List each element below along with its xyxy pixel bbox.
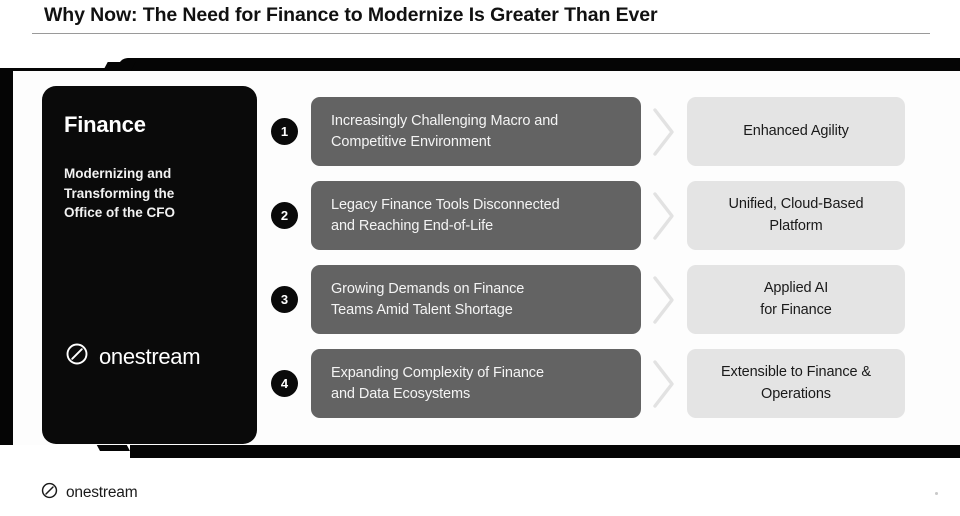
chevron-right-icon <box>641 97 687 166</box>
panel-subheading: Modernizing and Transforming the Office … <box>64 164 235 223</box>
list-item: 4 Expanding Complexity of Finance and Da… <box>271 349 941 418</box>
onestream-logo-icon <box>40 481 59 505</box>
outcome-box: Extensible to Finance & Operations <box>687 349 905 418</box>
frame-bottom-bar <box>130 445 960 458</box>
footer-brand-logo: onestream <box>40 481 137 505</box>
chevron-right-icon <box>641 265 687 334</box>
challenge-box: Increasingly Challenging Macro and Compe… <box>311 97 641 166</box>
list-item: 2 Legacy Finance Tools Disconnected and … <box>271 181 941 250</box>
panel-brand-logo: onestream <box>64 341 200 372</box>
outcome-box: Applied AI for Finance <box>687 265 905 334</box>
slide-frame: Finance Modernizing and Transforming the… <box>0 58 960 458</box>
slide-canvas: Finance Modernizing and Transforming the… <box>13 71 960 445</box>
step-number-badge: 3 <box>271 286 298 313</box>
list-item: 1 Increasingly Challenging Macro and Com… <box>271 97 941 166</box>
challenge-box: Expanding Complexity of Finance and Data… <box>311 349 641 418</box>
step-number-badge: 4 <box>271 370 298 397</box>
frame-top-bar <box>118 58 960 71</box>
chevron-right-icon <box>641 349 687 418</box>
step-number-badge: 2 <box>271 202 298 229</box>
panel-brand-name: onestream <box>99 344 200 370</box>
chevron-right-icon <box>641 181 687 250</box>
onestream-logo-icon <box>64 341 90 372</box>
challenge-box: Growing Demands on Finance Teams Amid Ta… <box>311 265 641 334</box>
challenge-box: Legacy Finance Tools Disconnected and Re… <box>311 181 641 250</box>
footer-brand-name: onestream <box>66 484 137 502</box>
frame-left-edge <box>0 72 13 440</box>
finance-panel: Finance Modernizing and Transforming the… <box>42 86 257 444</box>
footer-page-marker <box>935 492 938 495</box>
page-title: Why Now: The Need for Finance to Moderni… <box>44 4 657 27</box>
panel-heading: Finance <box>64 112 235 138</box>
title-divider <box>32 33 930 34</box>
challenge-outcome-list: 1 Increasingly Challenging Macro and Com… <box>271 97 941 418</box>
step-number-badge: 1 <box>271 118 298 145</box>
outcome-box: Unified, Cloud-Based Platform <box>687 181 905 250</box>
outcome-box: Enhanced Agility <box>687 97 905 166</box>
list-item: 3 Growing Demands on Finance Teams Amid … <box>271 265 941 334</box>
